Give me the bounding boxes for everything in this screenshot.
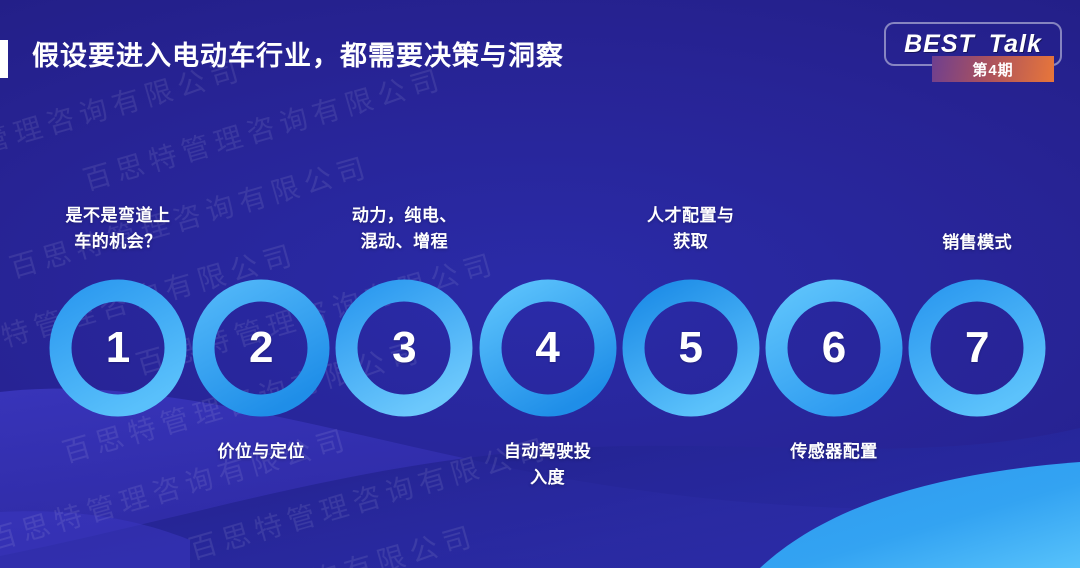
step-label-3: 动力，纯电、 混动、增程: [352, 203, 457, 256]
step-number: 2: [249, 326, 273, 370]
step-label-row: 是不是弯道上 车的机会？价位与定位动力，纯电、 混动、增程自动驾驶投 入度人才配…: [0, 0, 1080, 568]
step-number: 3: [392, 326, 416, 370]
slide-canvas: 百思特管理咨询有限公司 百思特管理咨询有限公司 百思特管理咨询有限公司 百思特管…: [0, 0, 1080, 568]
step-number: 6: [822, 326, 846, 370]
step-number: 7: [965, 326, 989, 370]
step-number: 5: [679, 326, 703, 370]
step-label-6: 传感器配置: [790, 439, 878, 465]
step-label-2: 价位与定位: [217, 439, 305, 465]
step-label-5: 人才配置与 获取: [647, 203, 735, 256]
step-label-4: 自动驾驶投 入度: [504, 439, 592, 492]
step-number: 1: [106, 326, 130, 370]
step-label-7: 销售模式: [942, 230, 1012, 256]
step-label-1: 是不是弯道上 车的机会？: [66, 203, 171, 256]
step-number: 4: [535, 326, 559, 370]
